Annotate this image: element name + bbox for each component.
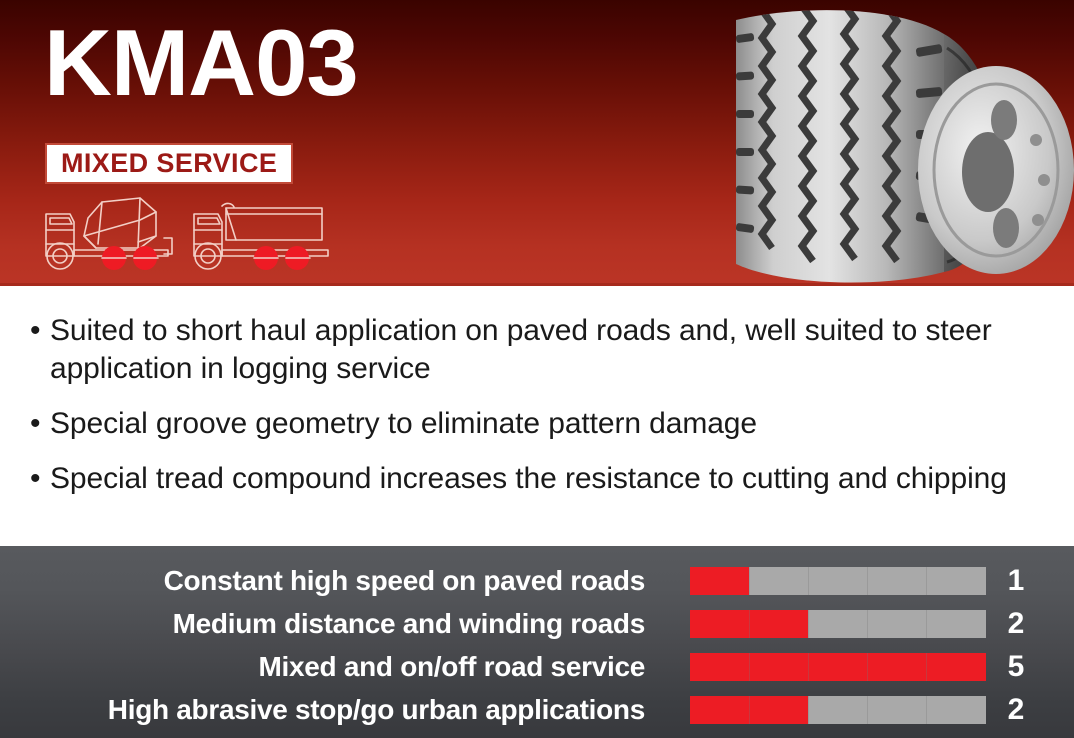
rating-label: Constant high speed on paved roads: [0, 565, 645, 597]
tire-product-spec-sheet: KMA03 MIXED SERVICE: [0, 0, 1074, 738]
feature-text: Suited to short haul application on pave…: [50, 312, 1044, 388]
rating-bar-fill: [690, 567, 749, 595]
bullet-icon: •: [30, 460, 50, 498]
feature-list: • Suited to short haul application on pa…: [0, 286, 1074, 546]
rating-value: 2: [994, 693, 1038, 727]
status-badge: MIXED SERVICE: [45, 143, 293, 184]
feature-text: Special groove geometry to eliminate pat…: [50, 405, 757, 443]
table-row: Constant high speed on paved roads 1: [0, 560, 1074, 602]
rating-value: 2: [994, 607, 1038, 641]
rating-bar: [690, 696, 986, 724]
table-row: Medium distance and winding roads 2: [0, 603, 1074, 645]
rating-label: Medium distance and winding roads: [0, 608, 645, 640]
list-item: • Special tread compound increases the r…: [30, 460, 1044, 498]
table-row: High abrasive stop/go urban applications…: [0, 689, 1074, 731]
feature-text: Special tread compound increases the res…: [50, 460, 1007, 498]
rating-bar: [690, 610, 986, 638]
rating-label: High abrasive stop/go urban applications: [0, 694, 645, 726]
table-row: Mixed and on/off road service 5: [0, 646, 1074, 688]
product-header: KMA03 MIXED SERVICE: [0, 0, 1074, 286]
application-ratings-panel: Constant high speed on paved roads 1 Med…: [0, 546, 1074, 738]
list-item: • Suited to short haul application on pa…: [30, 312, 1044, 388]
tire-product-image: KMA03: [644, 0, 1074, 286]
bullet-icon: •: [30, 312, 50, 350]
rating-label: Mixed and on/off road service: [0, 651, 645, 683]
list-item: • Special groove geometry to eliminate p…: [30, 405, 1044, 443]
rating-bar-fill: [690, 653, 986, 681]
rating-bar: [690, 653, 986, 681]
category-badge-label: MIXED SERVICE: [61, 149, 277, 177]
rating-value: 1: [994, 564, 1038, 598]
rating-bar: [690, 567, 986, 595]
vehicle-icon-group: [40, 192, 340, 276]
bullet-icon: •: [30, 405, 50, 443]
page-title: KMA03: [44, 16, 358, 110]
rating-value: 5: [994, 650, 1038, 684]
